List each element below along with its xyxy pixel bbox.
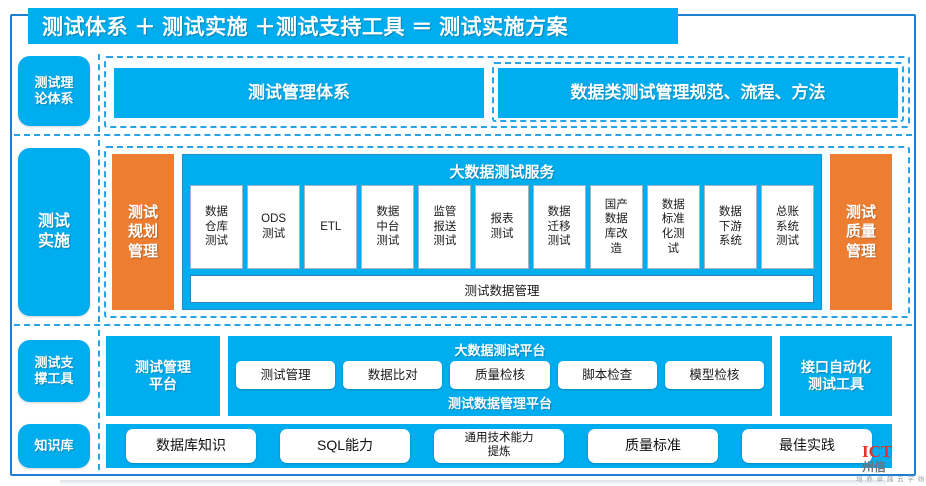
service-cell-label: 总账系统测试	[776, 205, 799, 249]
rail-vertical-separator-top	[98, 54, 100, 132]
test-data-management-label: 测试数据管理	[464, 280, 539, 299]
rail-theory-line2: 论体系	[34, 91, 73, 106]
rail-item-execution[interactable]: 测试 实施	[18, 148, 90, 316]
rail-item-support-tools[interactable]: 测试支 撑工具	[18, 340, 90, 402]
rail-theory-line1: 测试理	[34, 75, 73, 90]
service-cell-label: ETL	[320, 220, 341, 235]
bigdata-test-service-title: 大数据测试服务	[183, 161, 821, 182]
tpm-line3: 管理	[128, 243, 158, 260]
data-testing-standards-box[interactable]: 数据类测试管理规范、流程、方法	[498, 68, 898, 118]
rail-vertical-separator-bottom	[98, 330, 100, 470]
tmp-line1: 测试管理	[135, 359, 191, 375]
platform-pill-list: 测试管理数据比对质量检核脚本检查模型检核	[236, 360, 764, 390]
tqm-line1: 测试	[846, 204, 876, 221]
data-testing-standards-label: 数据类测试管理规范、流程、方法	[571, 82, 826, 103]
service-cell-label: ODS测试	[261, 212, 286, 241]
knowledge-pill-label: 最佳实践	[779, 438, 835, 453]
service-cell[interactable]: 数据迁移测试	[533, 185, 586, 269]
test-management-platform-box[interactable]: 测试管理 平台	[106, 336, 220, 416]
test-planning-management-pillar[interactable]: 测试 规划 管理	[112, 154, 174, 310]
test-quality-management-pillar[interactable]: 测试 质量 管理	[830, 154, 892, 310]
service-cell[interactable]: ODS测试	[247, 185, 300, 269]
rail-item-knowledge-base[interactable]: 知识库	[18, 424, 90, 468]
service-cell-label: 数据标准化测试	[662, 198, 685, 257]
platform-pill[interactable]: 模型检核	[665, 361, 764, 389]
rail-support-line1: 测试支	[34, 355, 73, 370]
row1-row2-separator	[14, 134, 912, 136]
service-cell[interactable]: 国产数据库改造	[590, 185, 643, 269]
service-cell-label: 监管报送测试	[433, 205, 456, 249]
rail-knowledge-label: 知识库	[34, 438, 73, 454]
test-data-management-bar[interactable]: 测试数据管理	[190, 275, 814, 303]
bigdata-test-platform-panel: 大数据测试平台 测试管理数据比对质量检核脚本检查模型检核 测试数据管理平台	[228, 336, 772, 416]
service-cell[interactable]: 数据下游系统	[704, 185, 757, 269]
rail-execution-line1: 测试	[38, 213, 70, 230]
rail-support-line2: 撑工具	[34, 371, 73, 386]
bigdata-test-platform-title: 大数据测试平台	[228, 340, 772, 359]
service-cell-label: 报表测试	[491, 212, 514, 241]
rail-support-label: 测试支 撑工具	[34, 355, 73, 388]
api-automation-tool-box[interactable]: 接口自动化 测试工具	[780, 336, 892, 416]
tmp-line2: 平台	[149, 376, 177, 392]
knowledge-pill[interactable]: SQL能力	[280, 429, 410, 463]
rail-theory-label: 测试理 论体系	[34, 75, 73, 108]
knowledge-base-strip: 数据库知识SQL能力通用技术能力提炼质量标准最佳实践	[106, 424, 892, 468]
knowledge-pill[interactable]: 质量标准	[588, 429, 718, 463]
knowledge-pill-label: 通用技术能力提炼	[465, 432, 534, 460]
page-title: 测试体系 ＋ 测试实施 ＋测试支持工具 ＝ 测试实施方案	[28, 8, 678, 44]
rail-vertical-separator-mid	[98, 140, 100, 322]
service-cell-label: 数据仓库测试	[205, 205, 228, 249]
knowledge-pill-label: 质量标准	[625, 438, 681, 453]
test-data-management-platform-title: 测试数据管理平台	[228, 393, 772, 412]
platform-pill[interactable]: 数据比对	[343, 361, 442, 389]
diagram-root: 测试体系 ＋ 测试实施 ＋测试支持工具 ＝ 测试实施方案 测试理 论体系 测试管…	[0, 0, 926, 486]
service-cell-label: 国产数据库改造	[605, 198, 628, 257]
tqm-line2: 质量	[846, 223, 876, 240]
knowledge-pill[interactable]: 数据库知识	[126, 429, 256, 463]
service-cell-list: 数据仓库测试ODS测试ETL数据中台测试监管报送测试报表测试数据迁移测试国产数据…	[190, 185, 814, 269]
service-cell[interactable]: 数据仓库测试	[190, 185, 243, 269]
service-cell-label: 数据下游系统	[719, 205, 742, 249]
service-cell[interactable]: 数据中台测试	[361, 185, 414, 269]
knowledge-pill[interactable]: 最佳实践	[742, 429, 872, 463]
knowledge-pill-label: 数据库知识	[156, 438, 226, 453]
platform-pill-label: 脚本检查	[582, 368, 632, 382]
test-quality-management-label: 测试 质量 管理	[846, 203, 876, 262]
platform-pill-label: 模型检核	[689, 368, 739, 382]
tpm-line2: 规划	[128, 223, 158, 240]
platform-pill[interactable]: 质量检核	[450, 361, 549, 389]
service-cell[interactable]: ETL	[304, 185, 357, 269]
test-management-platform-label: 测试管理 平台	[135, 359, 191, 394]
knowledge-pill-label: SQL能力	[317, 438, 373, 453]
page-title-text: 测试体系 ＋ 测试实施 ＋测试支持工具 ＝ 测试实施方案	[42, 11, 568, 41]
platform-pill-label: 测试管理	[261, 368, 311, 382]
service-cell[interactable]: 数据标准化测试	[647, 185, 700, 269]
service-cell[interactable]: 报表测试	[475, 185, 528, 269]
row2-row3-separator	[14, 324, 912, 326]
service-cell-label: 数据中台测试	[376, 205, 399, 249]
testing-management-system-box[interactable]: 测试管理体系	[114, 68, 484, 118]
testing-management-system-label: 测试管理体系	[248, 82, 350, 103]
tqm-line3: 管理	[846, 243, 876, 260]
platform-pill-label: 数据比对	[368, 368, 418, 382]
rail-execution-label: 测试 实施	[38, 212, 70, 252]
test-planning-management-label: 测试 规划 管理	[128, 203, 158, 262]
rail-execution-line2: 实施	[38, 233, 70, 250]
service-cell[interactable]: 监管报送测试	[418, 185, 471, 269]
tpm-line1: 测试	[128, 204, 158, 221]
api-automation-tool-label: 接口自动化 测试工具	[801, 359, 871, 394]
platform-pill[interactable]: 脚本检查	[558, 361, 657, 389]
platform-pill-label: 质量检核	[475, 368, 525, 382]
service-cell-label: 数据迁移测试	[548, 205, 571, 249]
rail-item-theory[interactable]: 测试理 论体系	[18, 56, 90, 126]
bigdata-test-service-panel: 大数据测试服务 数据仓库测试ODS测试ETL数据中台测试监管报送测试报表测试数据…	[182, 154, 822, 310]
api-line2: 测试工具	[808, 376, 864, 392]
platform-pill[interactable]: 测试管理	[236, 361, 335, 389]
api-line1: 接口自动化	[801, 359, 871, 375]
service-cell[interactable]: 总账系统测试	[761, 185, 814, 269]
bottom-shadow	[60, 480, 886, 486]
knowledge-pill[interactable]: 通用技术能力提炼	[434, 429, 564, 463]
